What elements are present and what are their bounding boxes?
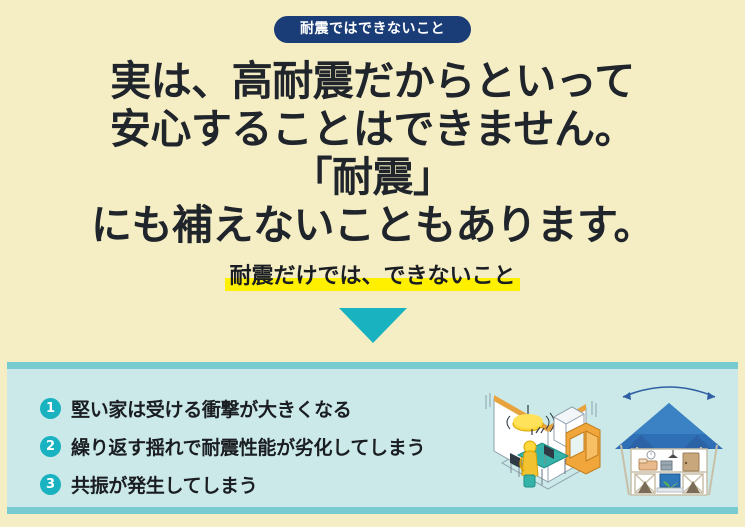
points-panel: 1 堅い家は受ける衝撃が大きくなる 2 繰り返す揺れで耐震性能が劣化してしまう … [7,362,738,514]
badge-row: 耐震ではできないこと [0,16,745,43]
list-item: 1 堅い家は受ける衝撃が大きくなる [40,389,510,427]
page-title: 実は、高耐震だからといって 安心することはできません。 「耐震」 にも補えないこ… [0,57,745,249]
points-list: 1 堅い家は受ける衝撃が大きくなる 2 繰り返す揺れで耐震性能が劣化してしまう … [40,389,510,503]
headline-line-3: 「耐震」 [0,153,745,201]
section-badge: 耐震ではできないこと [274,16,471,43]
list-item: 2 繰り返す揺れで耐震性能が劣化してしまう [40,427,510,465]
point-text: 共振が発生してしまう [71,471,257,498]
triangle-down-icon [339,308,407,343]
point-number-badge: 2 [40,436,61,457]
subheading-text: 耐震だけでは、できないこと [229,264,515,289]
point-number-badge: 3 [40,474,61,495]
headline-line-1: 実は、高耐震だからといって [0,57,745,105]
arrow-row [0,308,745,343]
point-number-badge: 1 [40,398,61,419]
shaking-room-illustration [482,371,607,506]
subheading: 耐震だけでは、できないこと [225,262,519,292]
headline-line-4: にも補えないこともあります。 [0,201,745,249]
infographic-poster: 耐震ではできないこと 実は、高耐震だからといって 安心することはできません。 「… [0,0,745,527]
point-text: 堅い家は受ける衝撃が大きくなる [71,395,352,422]
house-cross-section-illustration [607,371,732,506]
point-text: 繰り返す揺れで耐震性能が劣化してしまう [71,433,425,460]
subheading-row: 耐震だけでは、できないこと [0,262,745,292]
list-item: 3 共振が発生してしまう [40,465,510,503]
illustrations-group [482,371,734,509]
headline-line-2: 安心することはできません。 [0,105,745,153]
